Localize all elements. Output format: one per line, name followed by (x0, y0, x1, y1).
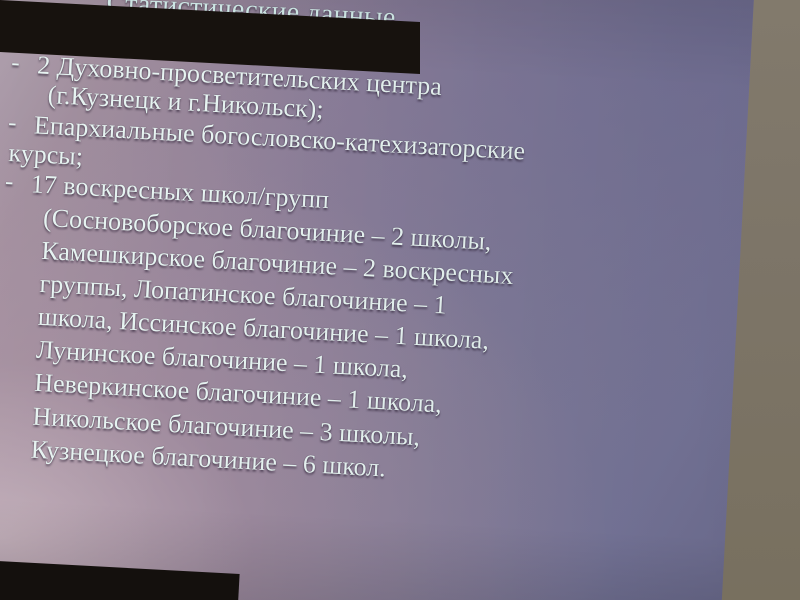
dash-bullet-icon: - (11, 49, 26, 78)
dash-bullet-icon: - (7, 109, 22, 138)
dash-bullet-icon: - (4, 168, 19, 197)
slide-content: Статистические данные В Кузнецкой епархи… (0, 0, 727, 500)
photo-scene: Статистические данные В Кузнецкой епархи… (0, 0, 800, 600)
projection-screen: Статистические данные В Кузнецкой епархи… (0, 0, 754, 600)
detail-line-list: (Сосновоборское благочиние – 2 школы, Ка… (0, 200, 715, 500)
slide-surface: Статистические данные В Кузнецкой епархи… (0, 0, 754, 600)
